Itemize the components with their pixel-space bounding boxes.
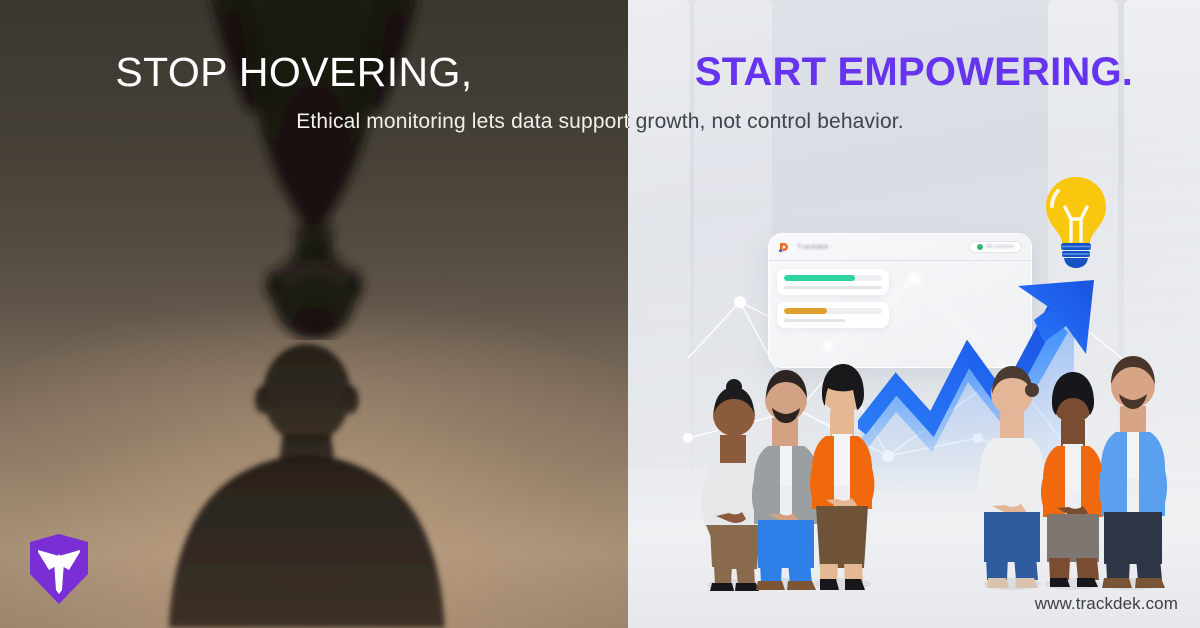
status-pill-label: All systems (986, 244, 1014, 250)
dashboard-topbar: Trackdek All systems (769, 234, 1031, 261)
metric-caption (784, 319, 845, 322)
progress-fill (784, 308, 827, 314)
person-from-behind-silhouette (127, 338, 487, 628)
idea-lightbulb-icon (1040, 173, 1112, 269)
progress-fill (784, 275, 855, 281)
split-comparison-banner: Trackdek All systems (0, 0, 1200, 628)
dashboard-logo-icon (778, 241, 791, 254)
right-panel-empowering: Trackdek All systems (628, 0, 1200, 628)
dashboard-status-pill[interactable]: All systems (969, 241, 1022, 253)
trackdek-shield-logo[interactable] (18, 528, 100, 610)
inverted-hovering-figure (144, 0, 484, 340)
site-url[interactable]: www.trackdek.com (1035, 594, 1178, 614)
person-man-blue-shirt (1086, 348, 1180, 600)
person-woman-orange-cardigan-left (796, 350, 888, 600)
dashboard-title: Trackdek (797, 244, 829, 251)
status-dot-icon (977, 244, 983, 250)
